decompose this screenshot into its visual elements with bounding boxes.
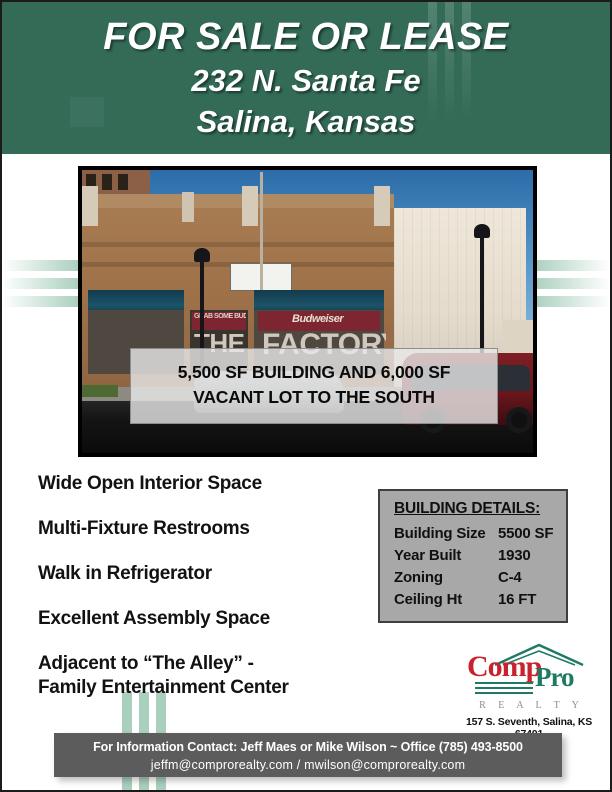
details-label: Ceiling Ht — [394, 589, 498, 611]
caption-line-1: 5,500 SF BUILDING AND 6,000 SF — [137, 360, 491, 385]
photo-bg-window — [118, 174, 128, 190]
details-label: Zoning — [394, 567, 498, 589]
logo-text-comp: Comp — [467, 652, 541, 682]
logo-accent-lines — [475, 682, 533, 694]
photo-caption-overlay: 5,500 SF BUILDING AND 6,000 SF VACANT LO… — [130, 348, 498, 424]
left-accent-bar-3 — [2, 296, 80, 307]
caption-line-2: VACANT LOT TO THE SOUTH — [137, 385, 491, 410]
header-text-block: FOR SALE OR LEASE 232 N. Santa Fe Salina… — [2, 2, 610, 142]
property-city-state: Salina, Kansas — [2, 101, 610, 142]
photo-street-lamp-head-left — [194, 248, 210, 262]
photo-sign-script-right: Budweiser — [292, 313, 378, 325]
details-row-ceiling-height: Ceiling Ht 16 FT — [380, 589, 566, 611]
property-street-address: 232 N. Santa Fe — [2, 60, 610, 101]
details-value: C-4 — [498, 567, 556, 589]
feature-item-alley-line-1: Adjacent to “The Alley” - — [38, 652, 368, 676]
company-logo: Comp Pro R E A L T Y 157 S. Seventh, Sal… — [454, 640, 604, 740]
details-label: Building Size — [394, 523, 498, 545]
photo-bg-window — [102, 174, 112, 190]
feature-item: Walk in Refrigerator — [38, 562, 368, 586]
logo-line-3 — [475, 692, 533, 694]
photo-grass — [82, 385, 118, 397]
left-accent-bar-2 — [2, 278, 80, 289]
photo-awning-right — [254, 290, 384, 312]
photo-brick-parapet — [82, 194, 394, 208]
right-accent-bar-2 — [532, 278, 610, 289]
left-accent-bar-1 — [2, 260, 80, 271]
details-value: 5500 SF — [498, 523, 556, 545]
building-details-box: BUILDING DETAILS: Building Size 5500 SF … — [378, 489, 568, 623]
feature-item: Wide Open Interior Space — [38, 472, 368, 496]
page-title: FOR SALE OR LEASE — [2, 14, 610, 60]
photo-cornice — [182, 192, 194, 222]
logo-line-2 — [475, 687, 533, 689]
right-accent-bars — [532, 260, 610, 308]
details-value: 1930 — [498, 545, 556, 567]
contact-info-line: For Information Contact: Jeff Maes or Mi… — [54, 738, 562, 756]
photo-street-lamp-head-right — [474, 224, 490, 238]
features-list: Wide Open Interior Space Multi-Fixture R… — [38, 472, 368, 700]
right-accent-bar-3 — [532, 296, 610, 307]
logo-line-1 — [475, 682, 533, 684]
feature-item-alley-line-2: Family Entertainment Center — [38, 676, 368, 700]
details-row-year-built: Year Built 1930 — [380, 545, 566, 567]
right-accent-bar-1 — [532, 260, 610, 271]
photo-awning-left — [88, 290, 184, 312]
flyer-page: FOR SALE OR LEASE 232 N. Santa Fe Salina… — [0, 0, 612, 792]
feature-item: Multi-Fixture Restrooms — [38, 517, 368, 541]
left-accent-bars — [2, 260, 80, 308]
building-details-title: BUILDING DETAILS: — [380, 500, 566, 518]
header-banner: FOR SALE OR LEASE 232 N. Santa Fe Salina… — [2, 2, 610, 154]
contact-footer-bar: For Information Contact: Jeff Maes or Mi… — [54, 733, 562, 777]
details-row-zoning: Zoning C-4 — [380, 567, 566, 589]
photo-brick-band — [82, 242, 394, 247]
logo-mark: Comp Pro — [461, 640, 597, 702]
details-row-building-size: Building Size 5500 SF — [380, 523, 566, 545]
contact-email-line[interactable]: jeffm@comprorealty.com / mwilson@compror… — [54, 756, 562, 774]
details-label: Year Built — [394, 545, 498, 567]
details-value: 16 FT — [498, 589, 556, 611]
logo-text-pro: Pro — [535, 664, 574, 691]
photo-cornice — [374, 186, 390, 226]
feature-item: Excellent Assembly Space — [38, 607, 368, 631]
photo-cornice — [242, 186, 258, 226]
property-photo: GRAB SOME BUDS THE Budweiser FACTORY 5,5… — [78, 166, 537, 457]
photo-cornice — [82, 186, 98, 226]
photo-wheel — [506, 407, 532, 433]
